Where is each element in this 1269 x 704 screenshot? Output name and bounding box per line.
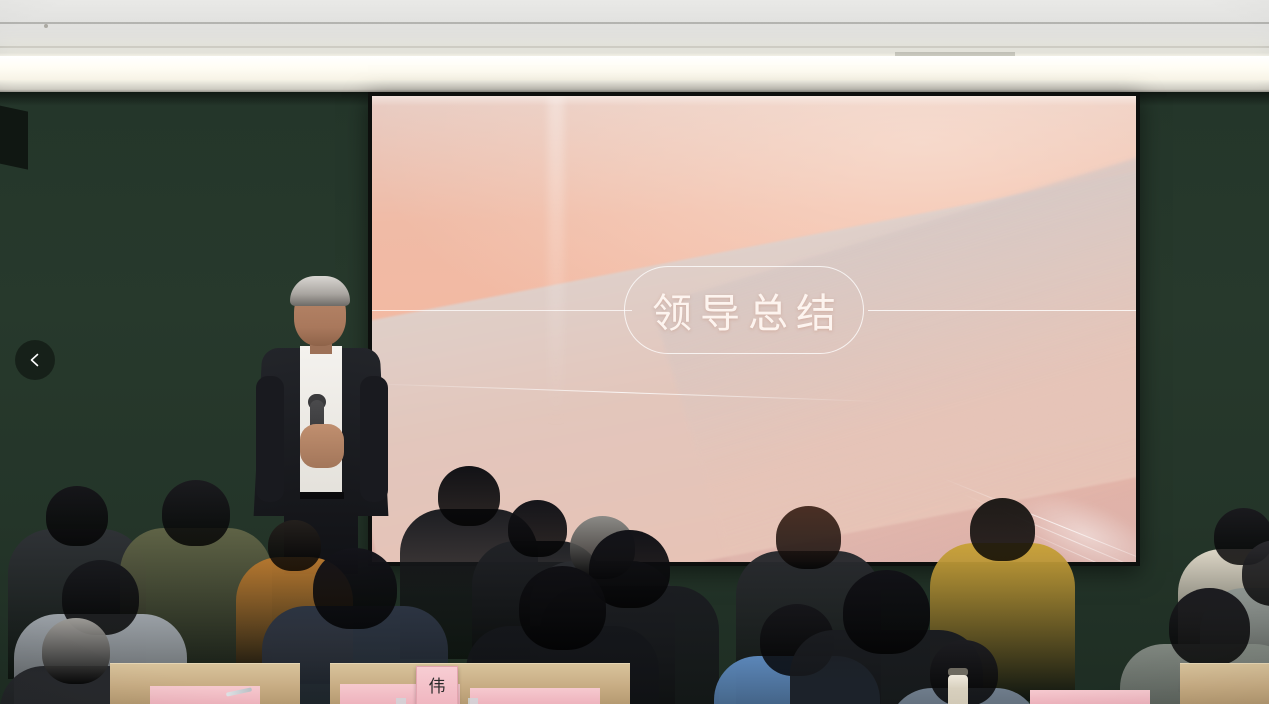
attendee-head bbox=[162, 480, 230, 546]
audience bbox=[0, 0, 1269, 704]
placard-text: 伟 bbox=[429, 678, 446, 695]
attendee-head bbox=[970, 498, 1035, 561]
chevron-left-icon bbox=[27, 352, 43, 368]
attendee-head bbox=[46, 486, 108, 546]
name-placard: 伟 bbox=[416, 666, 458, 704]
attendee-head bbox=[1169, 588, 1250, 666]
attendee-head bbox=[776, 506, 841, 569]
attendee-head bbox=[42, 618, 110, 684]
water-bottle bbox=[948, 675, 968, 704]
placard-stand bbox=[468, 698, 478, 704]
placard-stand bbox=[396, 698, 406, 704]
pink-paper-sheet bbox=[470, 688, 600, 704]
pink-paper-sheet bbox=[1030, 690, 1150, 704]
attendee-head bbox=[313, 548, 397, 629]
table-right bbox=[1180, 663, 1269, 704]
image-viewer: 领导总结 伟 bbox=[0, 0, 1269, 704]
previous-image-button[interactable] bbox=[15, 340, 55, 380]
attendee-head bbox=[519, 566, 606, 650]
